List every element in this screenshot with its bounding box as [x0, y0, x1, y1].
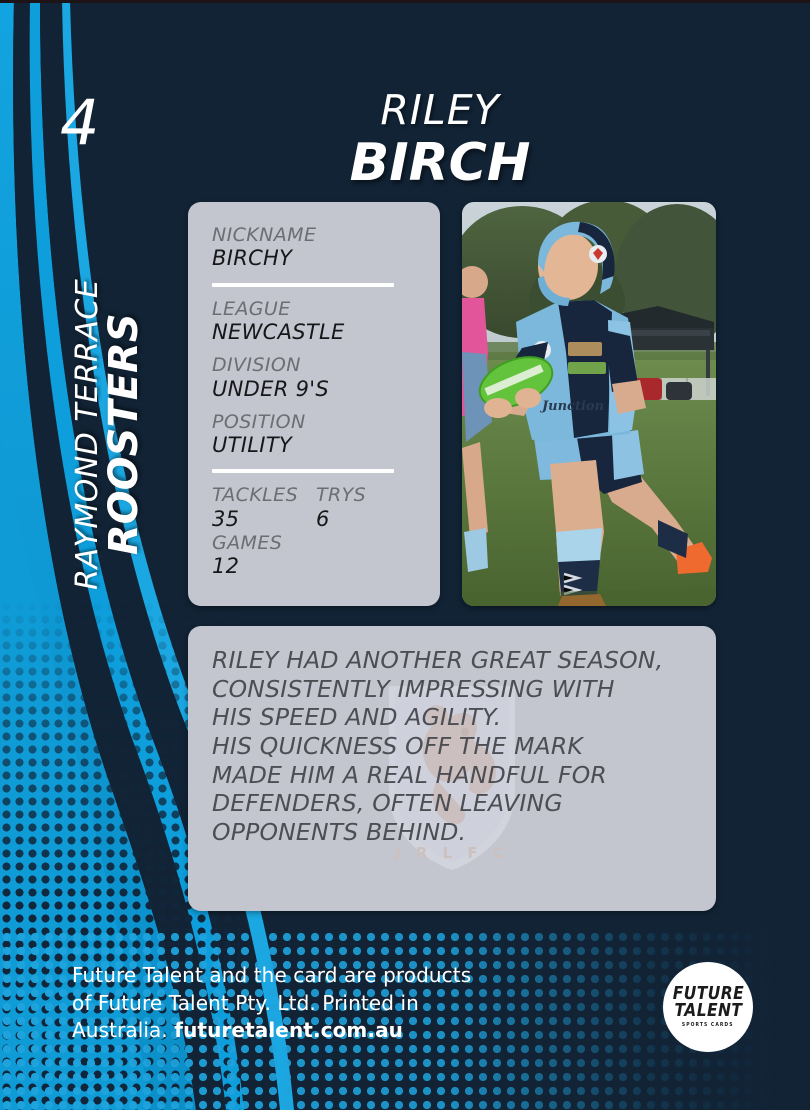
- card-top-edge: [0, 0, 810, 3]
- footer-website-link[interactable]: futuretalent.com.au: [174, 1018, 403, 1042]
- club-town: RAYMOND TERRACE: [74, 234, 103, 634]
- logo-subtitle: SPORTS CARDS: [682, 1022, 734, 1028]
- stat-value-position: UTILITY: [212, 433, 420, 458]
- player-first-name: RILEY: [250, 90, 630, 131]
- bio-line: OPPONENTS BEHIND.: [212, 818, 698, 847]
- stat-tackles: TACKLES 35: [212, 484, 316, 532]
- divider-2: [212, 469, 394, 473]
- footer-line-3-prefix: Australia.: [72, 1018, 174, 1042]
- stat-label-league: LEAGUE: [212, 298, 420, 320]
- player-photo: Junction: [462, 202, 716, 606]
- future-talent-logo: FUTURE TALENT SPORTS CARDS: [663, 962, 753, 1052]
- divider-1: [212, 283, 394, 287]
- stat-value-trys: 6: [316, 507, 420, 532]
- stat-league: LEAGUE NEWCASTLE: [212, 298, 420, 346]
- player-last-name: BIRCH: [250, 137, 630, 189]
- stat-label-tackles: TACKLES: [212, 484, 316, 506]
- stat-games: GAMES 12: [212, 532, 420, 580]
- bio-line: HIS QUICKNESS OFF THE MARK: [212, 732, 698, 761]
- player-name: RILEY BIRCH: [250, 90, 630, 189]
- bio-line: RILEY HAD ANOTHER GREAT SEASON,: [212, 646, 698, 675]
- bio-line: DEFENDERS, OFTEN LEAVING: [212, 789, 698, 818]
- jersey-number: 4: [60, 92, 98, 154]
- club-team-name: ROOSTERS: [104, 234, 142, 634]
- stat-label-nickname: NICKNAME: [212, 224, 420, 246]
- stat-value-division: UNDER 9'S: [212, 377, 420, 402]
- stat-value-nickname: BIRCHY: [212, 246, 420, 271]
- trading-card: 4 RILEY BIRCH RAYMOND TERRACE ROOSTERS N…: [0, 0, 810, 1110]
- stat-label-position: POSITION: [212, 411, 420, 433]
- watermark-text: J R L F C: [394, 844, 509, 862]
- bio-line: CONSISTENTLY IMPRESSING WITH: [212, 675, 698, 704]
- stats-panel: NICKNAME BIRCHY LEAGUE NEWCASTLE DIVISIO…: [188, 202, 440, 606]
- club-name-vertical: RAYMOND TERRACE ROOSTERS: [74, 234, 143, 634]
- footer-legal-text: Future Talent and the card are products …: [72, 962, 542, 1045]
- footer-line-1: Future Talent and the card are products: [72, 962, 542, 990]
- stat-label-division: DIVISION: [212, 354, 420, 376]
- bio-panel: J R L F C RILEY HAD ANOTHER GREAT SEASON…: [188, 626, 716, 911]
- stat-nickname: NICKNAME BIRCHY: [212, 224, 420, 272]
- footer-line-3: Australia. futuretalent.com.au: [72, 1017, 542, 1045]
- stat-label-games: GAMES: [212, 532, 420, 554]
- footer-line-2: of Future Talent Pty. Ltd. Printed in: [72, 990, 542, 1018]
- svg-text:Junction: Junction: [539, 399, 604, 414]
- bio-line: MADE HIM A REAL HANDFUL FOR: [212, 761, 698, 790]
- stat-row-tackles-trys: TACKLES 35 TRYS 6: [212, 484, 420, 532]
- stat-value-games: 12: [212, 554, 420, 579]
- bio-line: HIS SPEED AND AGILITY.: [212, 703, 698, 732]
- logo-line-2: TALENT: [674, 1003, 742, 1020]
- stat-value-tackles: 35: [212, 507, 316, 532]
- stat-position: POSITION UTILITY: [212, 411, 420, 459]
- stat-trys: TRYS 6: [316, 484, 420, 532]
- stat-value-league: NEWCASTLE: [212, 320, 420, 345]
- stat-label-trys: TRYS: [316, 484, 420, 506]
- bio-text: RILEY HAD ANOTHER GREAT SEASON, CONSISTE…: [212, 646, 698, 847]
- stat-division: DIVISION UNDER 9'S: [212, 354, 420, 402]
